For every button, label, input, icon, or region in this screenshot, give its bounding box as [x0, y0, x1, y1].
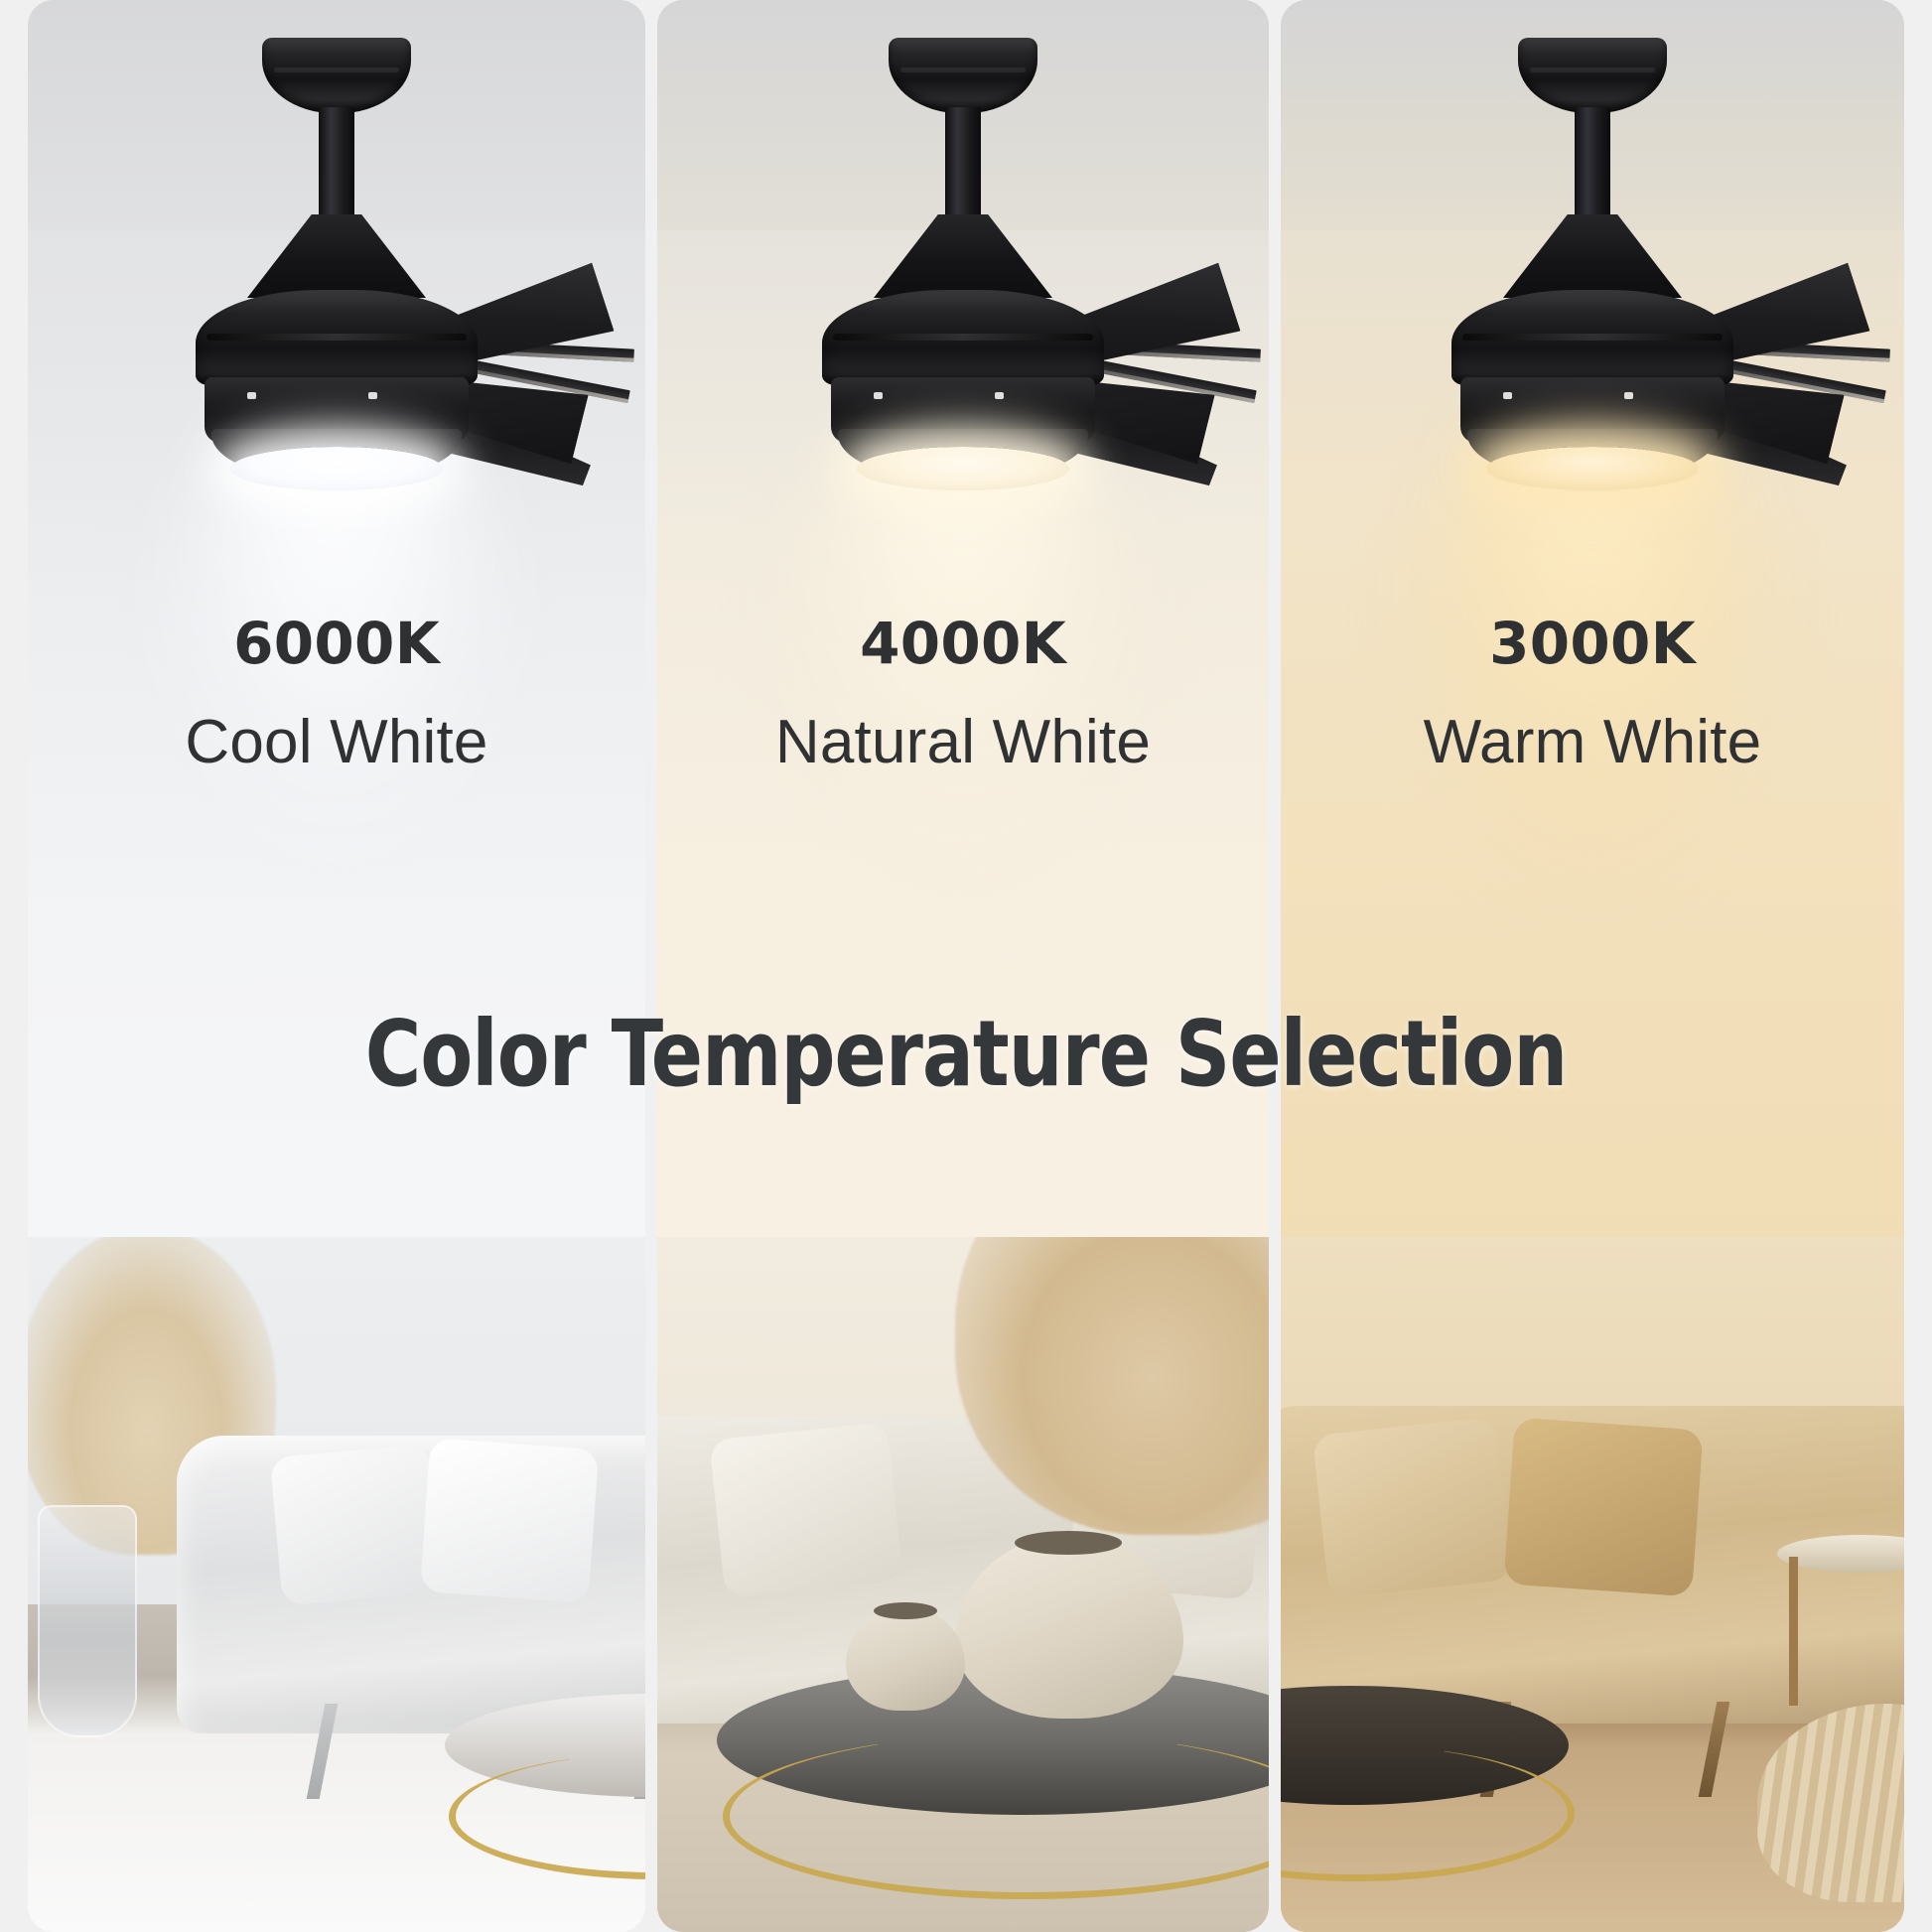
cushion — [1503, 1418, 1703, 1597]
product-infographic: 6000K Cool White — [0, 0, 1932, 1932]
fan-yoke — [1503, 214, 1682, 298]
panel-divider — [645, 0, 657, 1932]
page-title: Color Temperature Selection — [68, 1001, 1864, 1107]
temperature-name: Natural White — [657, 707, 1269, 777]
led-lens — [230, 447, 443, 490]
led-lens — [1486, 447, 1699, 490]
fan-yoke — [874, 214, 1052, 298]
temperature-name: Cool White — [28, 707, 645, 777]
kelvin-label: 4000K — [657, 610, 1269, 677]
temperature-panel-warm-white[interactable]: 3000K Warm White — [1281, 0, 1904, 1932]
cushion — [1312, 1417, 1512, 1598]
cushion — [709, 1422, 903, 1598]
room-scene-natural — [657, 1237, 1269, 1932]
vase-opening — [874, 1602, 937, 1619]
temperature-panel-cool-white[interactable]: 6000K Cool White — [28, 0, 645, 1932]
vase-opening — [1015, 1531, 1122, 1555]
kelvin-label: 6000K — [28, 610, 645, 677]
room-scene-cool — [28, 1237, 645, 1932]
fan-canopy — [262, 38, 411, 113]
room-scene-warm — [1281, 1237, 1904, 1932]
glass-vase — [38, 1505, 137, 1737]
fan-yoke — [247, 214, 426, 298]
cushion — [270, 1444, 441, 1605]
fan-motor-housing — [196, 290, 478, 385]
panel-divider — [1269, 0, 1281, 1932]
fan-canopy — [889, 38, 1037, 113]
ceiling-fan-icon — [29, 34, 644, 461]
ceiling-fan-icon — [1285, 34, 1900, 461]
fan-motor-housing — [822, 290, 1104, 385]
kelvin-label: 3000K — [1281, 610, 1904, 677]
side-table-leg — [1789, 1557, 1798, 1706]
fan-downrod — [1575, 107, 1610, 218]
ceiling-fan-icon — [657, 34, 1269, 461]
fan-downrod — [945, 107, 981, 218]
cushion — [420, 1438, 599, 1602]
fan-canopy — [1518, 38, 1667, 113]
fan-motor-housing — [1451, 290, 1733, 385]
temperature-name: Warm White — [1281, 707, 1904, 777]
temperature-panel-natural-white[interactable]: 4000K Natural White — [657, 0, 1269, 1932]
fan-downrod — [319, 107, 354, 218]
led-lens — [857, 447, 1069, 490]
